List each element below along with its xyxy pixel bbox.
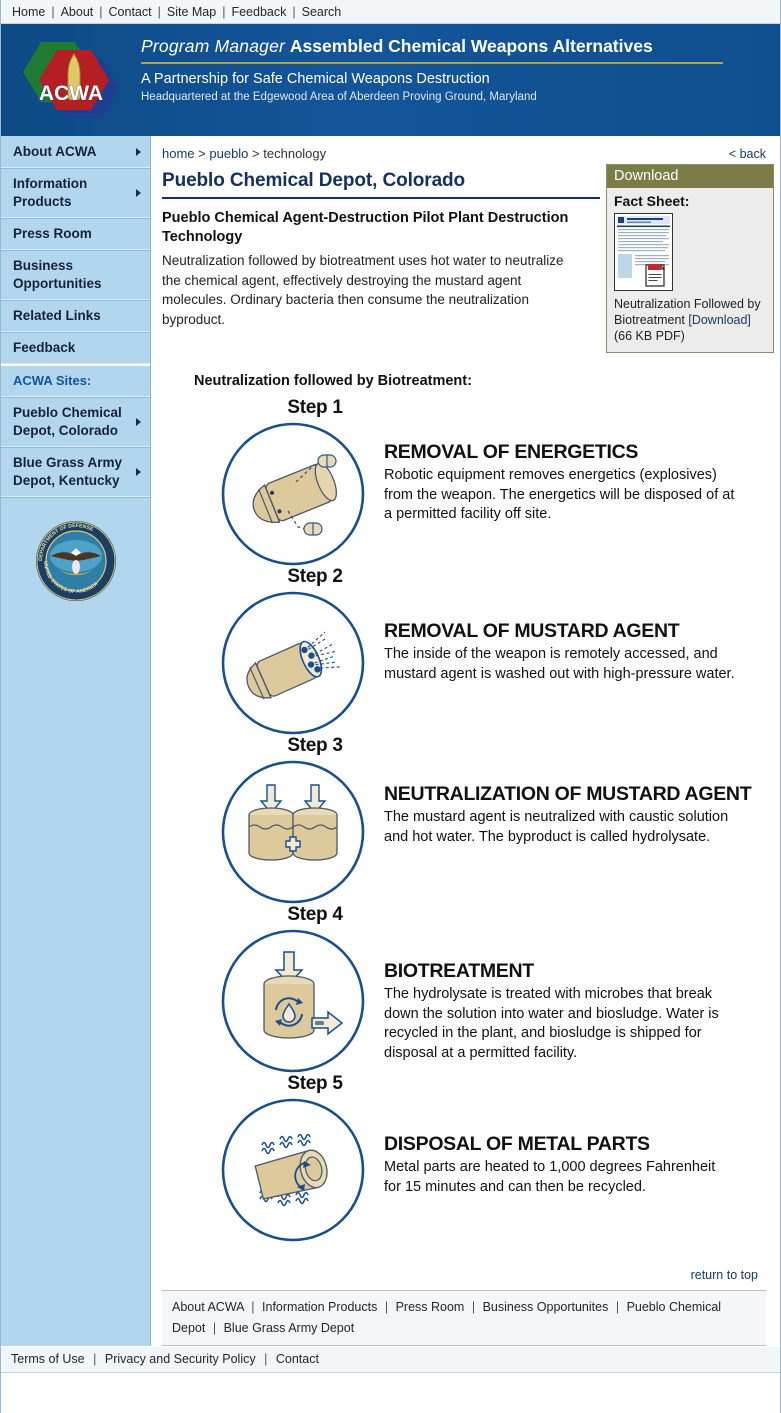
chevron-right-icon — [136, 148, 141, 156]
footer-sep: | — [209, 1321, 220, 1335]
sidebar-item-label: Related Links — [13, 308, 101, 323]
step-label: Step 4 — [220, 904, 410, 926]
step-label: Step 1 — [220, 397, 410, 419]
legal-sep: | — [88, 1352, 101, 1366]
step-description: Metal parts are heated to 1,000 degrees … — [384, 1158, 736, 1197]
topnav-item-home[interactable]: Home — [11, 5, 46, 19]
process-step: Step 2 — [162, 566, 766, 743]
chevron-right-icon — [136, 189, 141, 197]
legal-sep: | — [259, 1352, 272, 1366]
top-utility-nav: Home | About | Contact | Site Map | Feed… — [1, 0, 780, 24]
step-figure — [218, 926, 378, 1081]
sidebar-item-label: Business Opportunities — [13, 258, 102, 291]
footer-link-press-room[interactable]: Press Room — [396, 1300, 465, 1314]
download-box-header: Download — [607, 165, 773, 188]
breadcrumb-home[interactable]: home — [162, 146, 195, 161]
masthead-gold-rule — [141, 62, 723, 64]
sidebar-section-header-acwa-sites: ACWA Sites: — [1, 364, 150, 397]
page-title: Pueblo Chemical Depot, Colorado — [162, 170, 600, 199]
step-heading: REMOVAL OF ENERGETICS — [384, 441, 736, 464]
return-to-top-link[interactable]: return to top — [691, 1268, 758, 1282]
topnav-item-site-map[interactable]: Site Map — [166, 5, 217, 19]
sidebar-item-label: About ACWA — [13, 144, 96, 159]
sidebar-item-press-room[interactable]: Press Room — [1, 218, 150, 250]
fact-sheet-thumbnail[interactable] — [614, 213, 673, 291]
sidebar-item-blue-grass-army-depot[interactable]: Blue Grass Army Depot, Kentucky — [1, 447, 150, 497]
topnav-item-about[interactable]: About — [60, 5, 95, 19]
step-description: Robotic equipment removes energetics (ex… — [384, 466, 736, 525]
site-masthead: ACWA Program Manager Assembled Chemical … — [1, 24, 780, 136]
masthead-title-line: Program Manager Assembled Chemical Weapo… — [141, 36, 723, 57]
footer-links-bar: About ACWA | Information Products | Pres… — [162, 1290, 766, 1346]
chevron-right-icon — [136, 418, 141, 426]
footer-sep: | — [381, 1300, 392, 1314]
topnav-sep: | — [287, 5, 300, 19]
masthead-location: Headquartered at the Edgewood Area of Ab… — [141, 89, 723, 106]
process-steps: Step 1 — [162, 397, 766, 1250]
masthead-program-manager: Program Manager — [141, 36, 285, 56]
sidebar-item-label: Feedback — [13, 340, 75, 355]
breadcrumb-pueblo[interactable]: pueblo — [209, 146, 248, 161]
sidebar-item-label: Press Room — [13, 226, 92, 241]
acwa-logo-icon: ACWA — [1, 24, 141, 136]
step-description: The mustard agent is neutralized with ca… — [384, 808, 736, 847]
step-body: REMOVAL OF MUSTARD AGENT The inside of t… — [378, 588, 736, 684]
breadcrumb-sep: > — [252, 146, 260, 161]
sidebar-item-about-acwa[interactable]: About ACWA — [1, 137, 150, 168]
download-box-body: Fact Sheet: — [607, 188, 773, 352]
step-figure — [218, 757, 378, 912]
topnav-item-contact[interactable]: Contact — [108, 5, 153, 19]
masthead-text-block: Program Manager Assembled Chemical Weapo… — [141, 24, 723, 106]
download-box: Download Fact Sheet: — [606, 164, 774, 353]
dod-seal-icon: DEPARTMENT OF DEFENSE UNITED STATES OF A… — [35, 520, 117, 602]
munition-washout-icon — [218, 588, 368, 738]
step-label: Step 3 — [220, 735, 410, 757]
fact-sheet-label: Fact Sheet: — [614, 193, 766, 209]
process-step: Step 1 — [162, 397, 766, 574]
step-description: The inside of the weapon is remotely acc… — [384, 645, 736, 684]
step-heading: NEUTRALIZATION OF MUSTARD AGENT — [384, 783, 751, 806]
intro-paragraph: Neutralization followed by biotreatment … — [162, 251, 582, 329]
topnav-sep: | — [153, 5, 166, 19]
diagram-title: Neutralization followed by Biotreatment: — [194, 373, 766, 389]
step-heading: DISPOSAL OF METAL PARTS — [384, 1133, 736, 1156]
step-label: Step 5 — [220, 1073, 410, 1095]
step-figure — [218, 1095, 378, 1250]
download-link[interactable]: [Download] — [688, 313, 751, 327]
section-subtitle: Pueblo Chemical Agent-Destruction Pilot … — [162, 209, 582, 247]
sidebar-item-business-opportunities[interactable]: Business Opportunities — [1, 250, 150, 300]
breadcrumb-current: technology — [263, 146, 326, 161]
acwa-logo[interactable]: ACWA — [1, 24, 141, 136]
masthead-org-name: Assembled Chemical Weapons Alternatives — [290, 36, 653, 56]
step-figure — [218, 588, 378, 743]
legal-bar: Terms of Use | Privacy and Security Poli… — [1, 1346, 780, 1373]
topnav-sep: | — [46, 5, 59, 19]
left-sidebar: About ACWA Information Products Press Ro… — [1, 136, 151, 1346]
step-body: DISPOSAL OF METAL PARTS Metal parts are … — [378, 1095, 736, 1197]
sidebar-section-label: ACWA Sites: — [13, 373, 91, 388]
footer-link-information-products[interactable]: Information Products — [262, 1300, 377, 1314]
footer-link-about-acwa[interactable]: About ACWA — [172, 1300, 244, 1314]
sidebar-filler — [1, 628, 150, 1288]
content-columns: About ACWA Information Products Press Ro… — [1, 136, 780, 1346]
step-body: REMOVAL OF ENERGETICS Robotic equipment … — [378, 419, 736, 525]
munition-energetics-removal-icon — [218, 419, 368, 569]
sidebar-item-label: Pueblo Chemical Depot, Colorado — [13, 405, 122, 438]
legal-link-privacy-and-security-policy[interactable]: Privacy and Security Policy — [105, 1352, 256, 1366]
topnav-sep: | — [217, 5, 230, 19]
footer-link-blue-grass-army-depot[interactable]: Blue Grass Army Depot — [224, 1321, 355, 1335]
legal-link-terms-of-use[interactable]: Terms of Use — [11, 1352, 85, 1366]
back-link[interactable]: < back — [729, 147, 766, 161]
return-to-top-row: return to top — [162, 1250, 766, 1290]
process-step: Step 5 — [162, 1073, 766, 1250]
step-heading: BIOTREATMENT — [384, 960, 736, 983]
topnav-item-search[interactable]: Search — [301, 5, 343, 19]
footer-link-business-opportunities[interactable]: Business Opportunites — [483, 1300, 609, 1314]
breadcrumb-sep: > — [198, 146, 206, 161]
topnav-item-feedback[interactable]: Feedback — [230, 5, 287, 19]
legal-link-contact[interactable]: Contact — [276, 1352, 319, 1366]
process-step: Step 4 — [162, 904, 766, 1081]
two-tanks-neutralization-icon — [218, 757, 368, 907]
step-figure — [218, 419, 378, 574]
main-content: home > pueblo > technology < back Pueblo… — [151, 136, 780, 1346]
sidebar-item-feedback[interactable]: Feedback — [1, 332, 150, 364]
document-thumbnail-icon — [615, 214, 672, 290]
step-description: The hydrolysate is treated with microbes… — [384, 985, 736, 1063]
bioreactor-tank-icon — [218, 926, 368, 1076]
footer-sep: | — [468, 1300, 479, 1314]
footer-sep: | — [247, 1300, 258, 1314]
sidebar-item-related-links[interactable]: Related Links — [1, 300, 150, 332]
step-label: Step 2 — [220, 566, 410, 588]
sidebar-item-label: Blue Grass Army Depot, Kentucky — [13, 455, 122, 488]
step-body: NEUTRALIZATION OF MUSTARD AGENT The must… — [378, 757, 751, 847]
breadcrumb: home > pueblo > technology — [162, 146, 326, 161]
download-description: Neutralization Followed by Biotreatment … — [614, 296, 766, 344]
download-file-info: (66 KB PDF) — [614, 329, 685, 343]
page-root: Home | About | Contact | Site Map | Feed… — [0, 0, 781, 1413]
sidebar-item-pueblo-chemical-depot[interactable]: Pueblo Chemical Depot, Colorado — [1, 397, 150, 447]
topnav-sep: | — [94, 5, 107, 19]
svg-text:ACWA: ACWA — [39, 82, 103, 105]
masthead-tagline: A Partnership for Safe Chemical Weapons … — [141, 70, 723, 89]
step-body: BIOTREATMENT The hydrolysate is treated … — [378, 926, 736, 1063]
chevron-right-icon — [136, 468, 141, 476]
step-heading: REMOVAL OF MUSTARD AGENT — [384, 620, 736, 643]
process-step: Step 3 — [162, 735, 766, 912]
sidebar-item-information-products[interactable]: Information Products — [1, 168, 150, 218]
footer-sep: | — [612, 1300, 623, 1314]
metal-parts-furnace-icon — [218, 1095, 368, 1245]
sidebar-item-label: Information Products — [13, 176, 87, 209]
dod-seal-wrap: DEPARTMENT OF DEFENSE UNITED STATES OF A… — [1, 497, 150, 628]
